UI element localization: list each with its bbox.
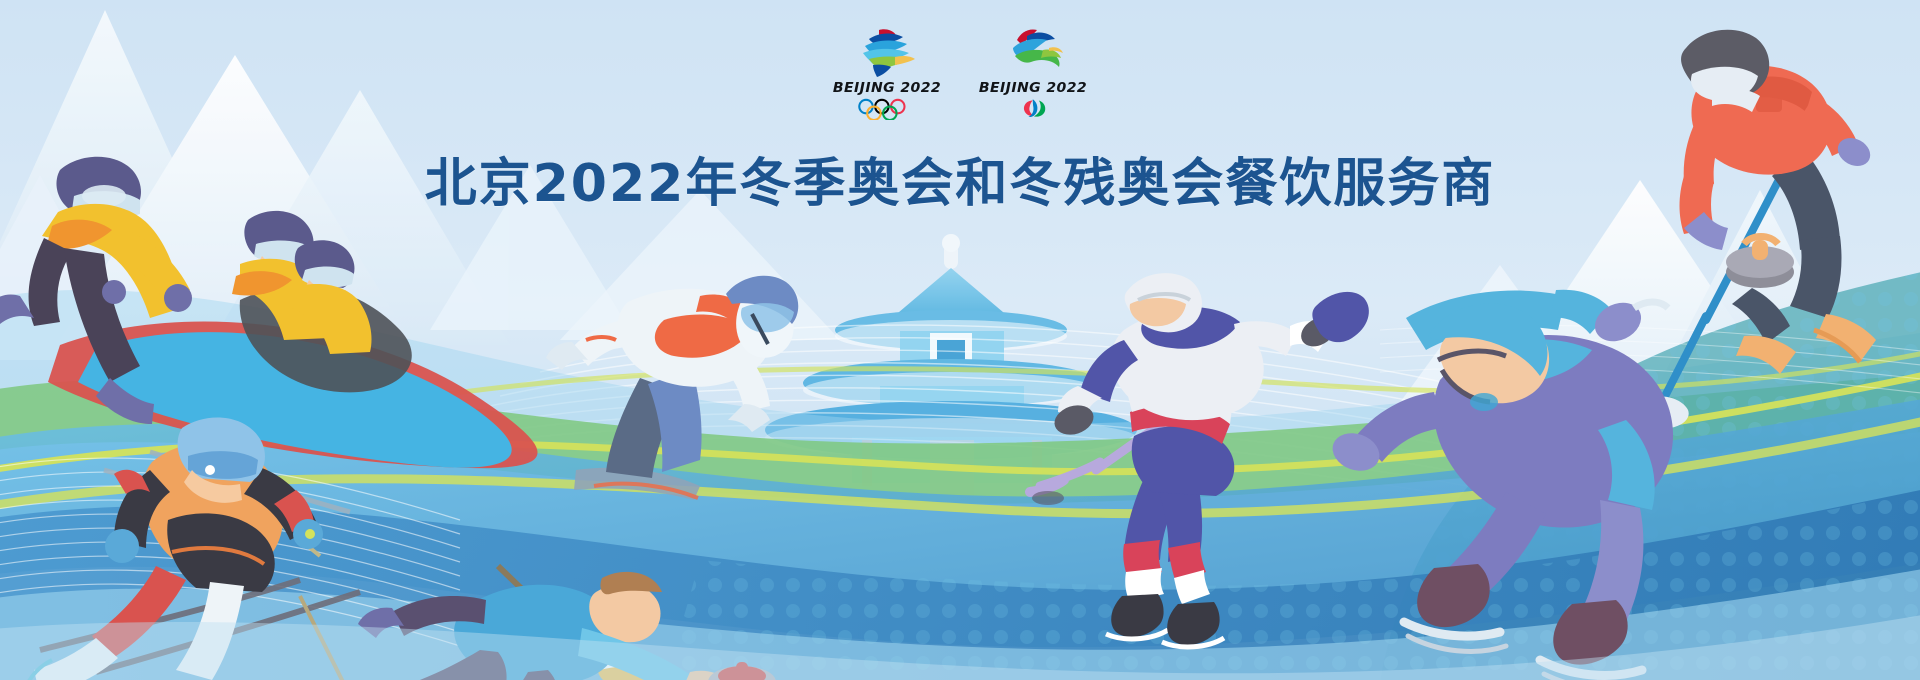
olympic-wordmark: BEIJING 2022: [833, 80, 941, 96]
paralympic-agitos-icon: [1001, 98, 1065, 120]
hockey-puck: [1032, 491, 1064, 505]
emblem-row: BEIJING 2022 BEIJING 2022: [0, 26, 1920, 120]
paralympic-emblem-block: BEIJING 2022: [979, 26, 1087, 120]
beijing-2022-catering-banner: BEIJING 2022 BEIJING 2022: [0, 0, 1920, 680]
beijing-2022-paralympic-emblem-icon: [995, 26, 1071, 78]
olympic-emblem-block: BEIJING 2022: [833, 26, 941, 120]
page-title: 北京2022年冬季奥会和冬残奥会餐饮服务商: [425, 155, 1496, 215]
beijing-2022-olympic-emblem-icon: [849, 26, 925, 78]
paralympic-wordmark: BEIJING 2022: [979, 80, 1087, 96]
olympic-rings-icon: [855, 98, 919, 120]
title-container: 北京2022年冬季奥会和冬残奥会餐饮服务商: [0, 120, 1920, 249]
